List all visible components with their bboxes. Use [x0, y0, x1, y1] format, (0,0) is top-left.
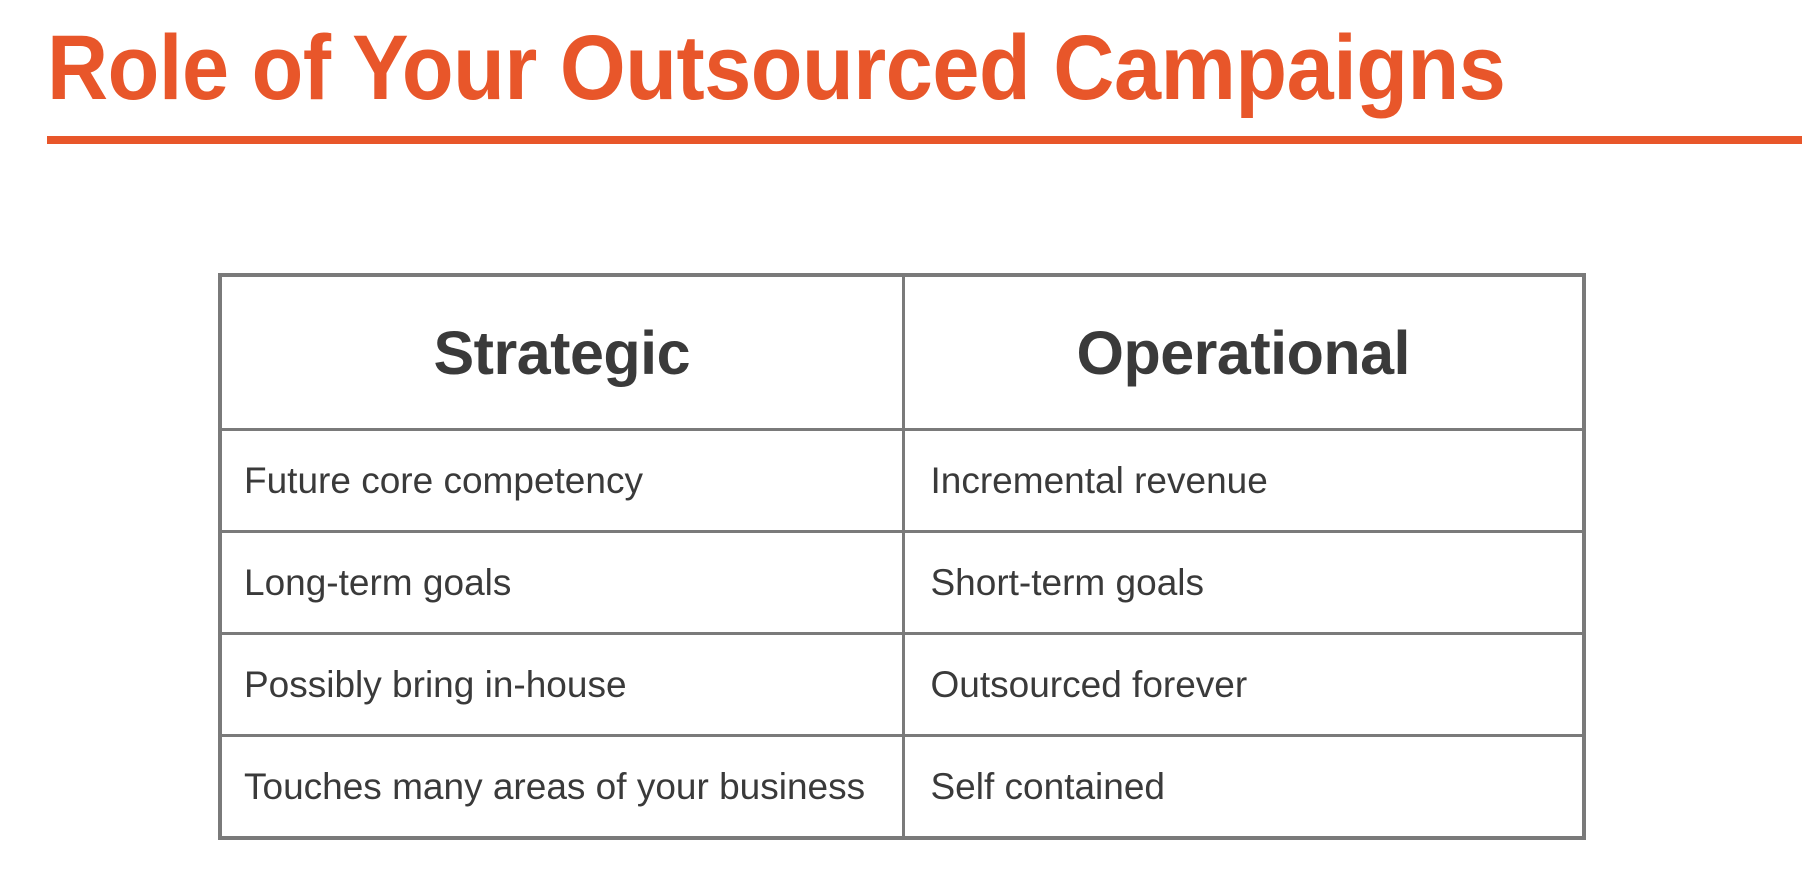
cell-strategic: Long-term goals — [220, 532, 903, 634]
table-body: Future core competency Incremental reven… — [220, 430, 1584, 839]
table-row: Touches many areas of your business Self… — [220, 736, 1584, 839]
cell-strategic: Possibly bring in-house — [220, 634, 903, 736]
cell-operational: Incremental revenue — [903, 430, 1584, 532]
page-title: Role of Your Outsourced Campaigns — [47, 12, 1505, 124]
column-header-strategic: Strategic — [220, 275, 903, 430]
cell-operational: Outsourced forever — [903, 634, 1584, 736]
title-block: Role of Your Outsourced Campaigns — [0, 0, 1802, 150]
table-header: Strategic Operational — [220, 275, 1584, 430]
cell-operational: Short-term goals — [903, 532, 1584, 634]
table-row: Future core competency Incremental reven… — [220, 430, 1584, 532]
cell-strategic: Touches many areas of your business — [220, 736, 903, 839]
slide: Role of Your Outsourced Campaigns Strate… — [0, 0, 1802, 880]
table-row: Long-term goals Short-term goals — [220, 532, 1584, 634]
column-header-operational: Operational — [903, 275, 1584, 430]
table-row: Possibly bring in-house Outsourced forev… — [220, 634, 1584, 736]
table-header-row: Strategic Operational — [220, 275, 1584, 430]
cell-strategic: Future core competency — [220, 430, 903, 532]
title-underline-rule — [47, 136, 1802, 144]
comparison-table: Strategic Operational Future core compet… — [218, 273, 1586, 840]
cell-operational: Self contained — [903, 736, 1584, 839]
